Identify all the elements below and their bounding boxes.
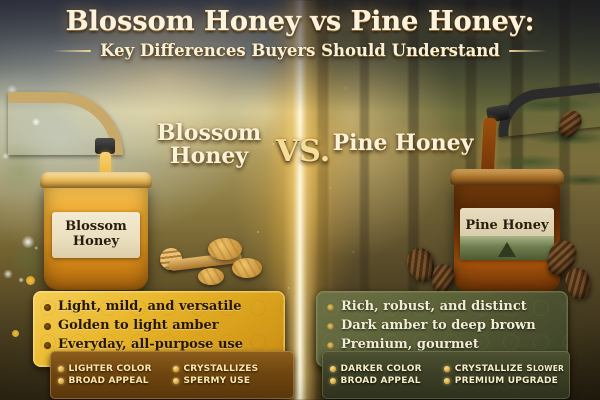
list-item: Golden to light amber	[44, 318, 275, 334]
jar-label-left-line2: Honey	[73, 235, 119, 250]
bullet-dot-icon	[327, 342, 334, 349]
badge-dot-icon	[173, 378, 179, 384]
jar-rim-left	[40, 172, 152, 188]
right-badge-2-small: LOWER	[533, 364, 564, 373]
list-item: Rich, robust, and distinct	[327, 299, 558, 315]
right-badge-1: DARKER COLOR	[341, 364, 422, 374]
status-badge: DARKER COLOR	[330, 363, 444, 375]
right-badge-2-main: CRYSTALLIZE S	[455, 364, 533, 374]
left-bullet-1: Light, mild, and versatile	[58, 299, 242, 315]
left-badge-4: SPERMY USE	[184, 376, 251, 386]
badge-dot-icon	[330, 378, 336, 384]
pine-honey-jar: Pine Honey	[448, 166, 566, 292]
versus-label: VS.	[272, 134, 334, 169]
jar-label-left: Blossom Honey	[52, 212, 140, 258]
left-product-heading: Blossom Honey	[148, 122, 270, 168]
page-title: Blossom Honey vs Pine Honey:	[0, 6, 600, 36]
divider-rule-icon	[509, 50, 547, 52]
jar-label-right: Pine Honey	[460, 208, 554, 260]
badge-dot-icon	[444, 378, 450, 384]
right-badge-4: PREMIUM UPGRADE	[455, 376, 558, 386]
honey-comparison-poster: Blossom Honey Pine Honey Blossom Honey v…	[0, 0, 600, 400]
left-product-heading-line2: Honey	[148, 145, 270, 168]
divider-rule-icon	[53, 50, 91, 52]
badge-dot-icon	[58, 366, 64, 372]
right-product-heading: Pine Honey	[330, 132, 476, 155]
right-bullet-2: Dark amber to deep brown	[341, 318, 536, 334]
jar-label-left-line1: Blossom	[65, 220, 127, 235]
blossom-honey-jar: Blossom Honey	[38, 168, 154, 290]
status-badge: LIGHTER COLOR	[58, 363, 173, 375]
jar-label-right-text: Pine Honey	[465, 219, 548, 234]
status-badge: CRYSTALLIZES	[173, 363, 288, 375]
bullet-dot-icon	[44, 304, 51, 311]
bullet-dot-icon	[44, 323, 51, 330]
right-bullet-1: Rich, robust, and distinct	[341, 299, 527, 315]
poster-header: Blossom Honey vs Pine Honey: Key Differe…	[0, 6, 600, 60]
status-badge: PREMIUM UPGRADE	[444, 375, 564, 387]
daisy-flower-icon	[26, 276, 35, 285]
status-badge: BROAD APPEAL	[330, 375, 444, 387]
status-badge: BROAD APPEAL	[58, 375, 173, 387]
left-badge-2: CRYSTALLIZES	[184, 364, 259, 374]
daisy-flower-icon	[12, 330, 19, 337]
left-badge-bar: LIGHTER COLOR CRYSTALLIZES BROAD APPEAL …	[50, 351, 294, 399]
list-item: Dark amber to deep brown	[327, 318, 558, 334]
bullet-dot-icon	[327, 323, 334, 330]
page-subtitle: Key Differences Buyers Should Understand	[100, 41, 500, 60]
bullet-dot-icon	[44, 342, 51, 349]
list-item: Light, mild, and versatile	[44, 299, 275, 315]
badge-dot-icon	[173, 366, 179, 372]
forest-illustration-icon	[460, 236, 554, 260]
left-bullet-2: Golden to light amber	[58, 318, 219, 334]
right-badge-bar: DARKER COLOR CRYSTALLIZE SLOWER BROAD AP…	[322, 351, 570, 399]
pine-tree-icon	[498, 242, 516, 257]
right-badge-2: CRYSTALLIZE SLOWER	[455, 364, 564, 374]
honeycomb-piece-icon	[232, 258, 262, 278]
left-badge-3: BROAD APPEAL	[69, 376, 149, 386]
status-badge: CRYSTALLIZE SLOWER	[444, 363, 564, 375]
badge-dot-icon	[330, 366, 336, 372]
honeycomb-piece-icon	[208, 238, 242, 260]
jar-rim-right	[450, 169, 564, 185]
left-product-heading-line1: Blossom	[148, 122, 270, 145]
right-badge-3: BROAD APPEAL	[341, 376, 421, 386]
badge-dot-icon	[58, 378, 64, 384]
badge-dot-icon	[444, 366, 450, 372]
status-badge: SPERMY USE	[173, 375, 288, 387]
left-badge-1: LIGHTER COLOR	[69, 364, 152, 374]
bullet-dot-icon	[327, 304, 334, 311]
subtitle-row: Key Differences Buyers Should Understand	[0, 41, 600, 60]
honeycomb-piece-icon	[198, 268, 224, 285]
